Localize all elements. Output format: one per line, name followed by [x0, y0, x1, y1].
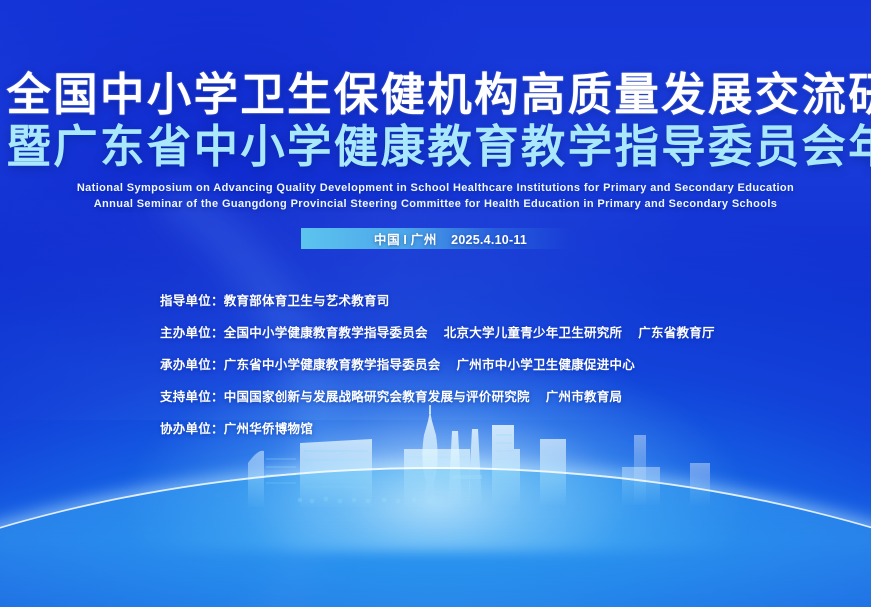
- poster-title-secondary: 暨广东省中小学健康教育教学指导委员会年度研讨活动: [7, 124, 865, 170]
- organization-value: 中国国家创新与发展战略研究会教育发展与评价研究院: [224, 386, 530, 405]
- organization-list: 指导单位： 教育部体育卫生与艺术教育司 主办单位： 全国中小学健康教育教学指导委…: [160, 290, 715, 437]
- organization-row: 支持单位： 中国国家创新与发展战略研究会教育发展与评价研究院 广州市教育局: [160, 386, 715, 405]
- organization-value: 全国中小学健康教育教学指导委员会: [224, 322, 428, 341]
- location-date-badge: 中国I广州2025.4.10-11: [301, 228, 571, 249]
- organization-values: 全国中小学健康教育教学指导委员会 北京大学儿童青少年卫生研究所 广东省教育厅: [224, 322, 715, 341]
- organization-label: 主办单位：: [160, 322, 224, 341]
- organization-label: 协办单位：: [160, 418, 224, 437]
- badge-text: 中国I广州2025.4.10-11: [344, 229, 527, 248]
- organization-label: 指导单位：: [160, 290, 224, 309]
- ground-haze: [0, 487, 871, 607]
- badge-city: 广州: [411, 233, 438, 247]
- poster-subtitle-english: National Symposium on Advancing Quality …: [0, 180, 871, 213]
- organization-values: 广州华侨博物馆: [224, 418, 313, 437]
- subtitle-line-1: National Symposium on Advancing Quality …: [0, 180, 871, 197]
- organization-value: 广州市中小学卫生健康促进中心: [457, 354, 636, 373]
- location-date-badge-wrapper: 中国I广州2025.4.10-11: [0, 228, 871, 249]
- badge-country: 中国: [374, 233, 401, 247]
- organization-values: 中国国家创新与发展战略研究会教育发展与评价研究院 广州市教育局: [224, 386, 623, 405]
- organization-row: 主办单位： 全国中小学健康教育教学指导委员会 北京大学儿童青少年卫生研究所 广东…: [160, 322, 715, 341]
- organization-row: 承办单位： 广东省中小学健康教育教学指导委员会 广州市中小学卫生健康促进中心: [160, 354, 715, 373]
- organization-label: 承办单位：: [160, 354, 224, 373]
- conference-poster: 全国中小学卫生保健机构高质量发展交流研讨活动 暨广东省中小学健康教育教学指导委员…: [0, 0, 871, 607]
- organization-value: 广州市教育局: [546, 386, 623, 405]
- organization-value: 教育部体育卫生与艺术教育司: [224, 290, 390, 309]
- organization-value: 广东省教育厅: [638, 322, 715, 341]
- organization-row: 指导单位： 教育部体育卫生与艺术教育司: [160, 290, 715, 309]
- organization-value: 广州华侨博物馆: [224, 418, 313, 437]
- organization-value: 北京大学儿童青少年卫生研究所: [444, 322, 623, 341]
- badge-separator: I: [400, 233, 410, 247]
- subtitle-line-2: Annual Seminar of the Guangdong Provinci…: [0, 196, 871, 213]
- horizon-arc: [0, 467, 871, 607]
- organization-values: 教育部体育卫生与艺术教育司: [224, 290, 390, 309]
- poster-title-primary: 全国中小学卫生保健机构高质量发展交流研讨活动: [7, 72, 865, 118]
- organization-label: 支持单位：: [160, 386, 224, 405]
- badge-date: 2025.4.10-11: [437, 233, 527, 247]
- title-block: 全国中小学卫生保健机构高质量发展交流研讨活动 暨广东省中小学健康教育教学指导委员…: [0, 72, 871, 213]
- organization-value: 广东省中小学健康教育教学指导委员会: [224, 354, 441, 373]
- organization-row: 协办单位： 广州华侨博物馆: [160, 418, 715, 437]
- organization-values: 广东省中小学健康教育教学指导委员会 广州市中小学卫生健康促进中心: [224, 354, 635, 373]
